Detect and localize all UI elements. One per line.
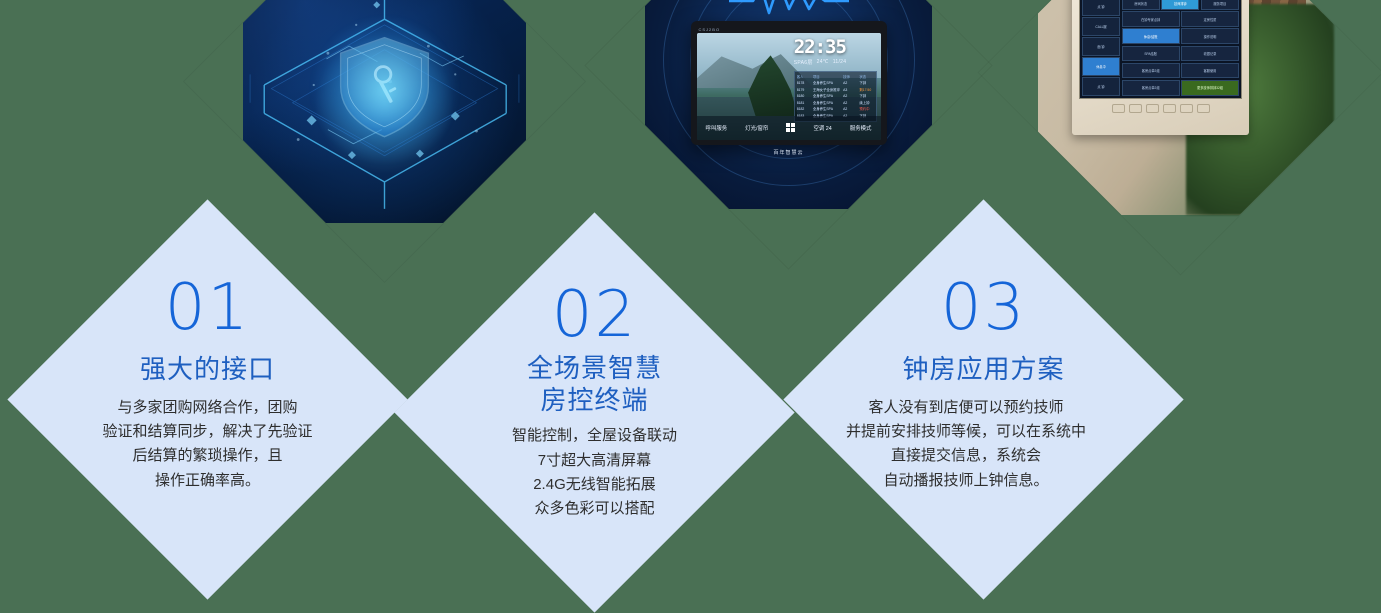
wall-control-panel-photo: 点 钟 CALL服 面 钟 休息中 点 钟 房间状态 技师排钟 服务项目 — [1038, 0, 1323, 215]
menu-item[interactable]: 操作说明 — [1181, 28, 1239, 44]
feature-card-03[interactable]: 03 钟房应用方案 客人没有到店便可以预约技师 并提前安排技师等候，可以在系统中… — [783, 199, 1183, 599]
card-number: 03 — [941, 276, 1026, 340]
menu-item[interactable]: 收银记录 — [1181, 46, 1239, 62]
side-button[interactable]: CALL服 — [1082, 17, 1120, 36]
card-title: 钟房应用方案 — [902, 354, 1064, 386]
tablet-device: CSJ2BO 22:35 SPA6层 24℃ 11/24 — [691, 21, 887, 145]
panel-key[interactable] — [1163, 104, 1176, 113]
panel-physical-keys — [1079, 104, 1242, 113]
tab-room-status[interactable]: 房间状态 — [1122, 0, 1160, 10]
card-title: 强大的接口 — [140, 354, 275, 386]
photo-diamond-wall-panel: 点 钟 CALL服 面 钟 休息中 点 钟 房间状态 技师排钟 服务项目 — [979, 0, 1381, 274]
app-grid-icon[interactable] — [786, 123, 795, 132]
room-control-tablet-photo: CSJ2BO 22:35 SPA6层 24℃ 11/24 — [645, 0, 932, 209]
menu-item[interactable]: 在钟专家点钟 — [1122, 11, 1180, 27]
tab-service-items[interactable]: 服务项目 — [1201, 0, 1239, 10]
tablet-bottom-bar: 呼叫服务 灯光/窗帘 空调 24 服务模式 — [697, 116, 881, 140]
panel-menu-grid: 在钟专家点钟 定房性质 休息/结账 操作说明 SPA结账 收银记录 客房点单2组… — [1122, 11, 1239, 95]
menu-item-highlight[interactable]: 更多技师排钟32组 — [1181, 80, 1239, 96]
security-shield-circuit-photo — [243, 0, 526, 223]
menu-item-selected[interactable]: 休息/结账 — [1122, 28, 1180, 44]
bottom-button-call-service[interactable]: 呼叫服务 — [706, 124, 728, 132]
card-description: 客人没有到店便可以预约技师 并提前安排技师等候，可以在系统中 直接提交信息，系统… — [801, 396, 1131, 493]
menu-item[interactable]: SPA结账 — [1122, 46, 1180, 62]
card-title: 全场景智慧 房控终端 — [527, 353, 662, 416]
panel-key[interactable] — [1197, 104, 1210, 113]
menu-item[interactable]: 客服使用 — [1181, 63, 1239, 79]
tablet-screen: 22:35 SPA6层 24℃ 11/24 客人 项目 技师 — [697, 33, 881, 140]
panel-key[interactable] — [1146, 104, 1159, 113]
tablet-logo: 百年智慧云 — [691, 149, 887, 156]
clock-room: SPA6层 — [794, 59, 813, 66]
promo-banner: CSJ2BO 22:35 SPA6层 24℃ 11/24 — [0, 0, 1381, 603]
bottom-button-service-mode[interactable]: 服务模式 — [850, 124, 872, 132]
panel-main: 房间状态 技师排钟 服务项目 在钟专家点钟 定房性质 休息/结账 操作说明 SP… — [1122, 0, 1239, 96]
heartbeat-pulse-icon — [729, 0, 849, 19]
clock-widget: 22:35 SPA6层 24℃ 11/24 — [794, 38, 877, 66]
side-button[interactable]: 点 钟 — [1082, 77, 1120, 96]
wall-panel-device: 点 钟 CALL服 面 钟 休息中 点 钟 房间状态 技师排钟 服务项目 — [1072, 0, 1249, 135]
card-number: 01 — [165, 276, 250, 340]
clock-temperature: 24℃ — [817, 59, 829, 66]
feature-card-02[interactable]: 02 全场景智慧 房控终端 智能控制，全屋设备联动 7寸超大高清屏幕 2.4G无… — [394, 212, 794, 612]
service-table: 客人 项目 技师 状态 8178 全身养生SPA A2 下钟 — [794, 71, 877, 122]
panel-key[interactable] — [1129, 104, 1142, 113]
clock-date: 11/24 — [833, 59, 847, 66]
bottom-button-light-curtain[interactable]: 灯光/窗帘 — [745, 124, 768, 132]
card-description: 与多家团购网络合作，团购 验证和结算同步，解决了先验证 后结算的繁琐操作，且 操… — [102, 396, 312, 493]
panel-side-buttons: 点 钟 CALL服 面 钟 休息中 点 钟 — [1082, 0, 1120, 96]
panel-key[interactable] — [1112, 104, 1125, 113]
bottom-button-aircon[interactable]: 空调 24 — [813, 124, 831, 132]
side-button[interactable]: 面 钟 — [1082, 37, 1120, 56]
feature-card-01[interactable]: 01 强大的接口 与多家团购网络合作，团购 验证和结算同步，解决了先验证 后结算… — [7, 199, 407, 599]
clock-meta: SPA6层 24℃ 11/24 — [794, 59, 877, 66]
menu-item[interactable]: 客房点单2组 — [1122, 63, 1180, 79]
shield-glow — [310, 15, 460, 165]
photo-diamond-room-tablet: CSJ2BO 22:35 SPA6层 24℃ 11/24 — [586, 0, 992, 268]
side-button[interactable]: 点 钟 — [1082, 0, 1120, 16]
tab-tech-schedule[interactable]: 技师排钟 — [1161, 0, 1199, 10]
panel-tabs: 房间状态 技师排钟 服务项目 — [1122, 0, 1239, 10]
card-number: 02 — [552, 283, 637, 347]
panel-key[interactable] — [1180, 104, 1193, 113]
panel-screen: 点 钟 CALL服 面 钟 休息中 点 钟 房间状态 技师排钟 服务项目 — [1079, 0, 1242, 99]
menu-item[interactable]: 定房性质 — [1181, 11, 1239, 27]
side-button-selected[interactable]: 休息中 — [1082, 57, 1120, 76]
menu-item[interactable]: 客房点单2组 — [1122, 80, 1180, 96]
tablet-brand: CSJ2BO — [697, 26, 881, 33]
clock-time: 22:35 — [794, 38, 877, 57]
card-description: 智能控制，全屋设备联动 7寸超大高清屏幕 2.4G无线智能拓展 众多色彩可以搭配 — [512, 424, 677, 521]
